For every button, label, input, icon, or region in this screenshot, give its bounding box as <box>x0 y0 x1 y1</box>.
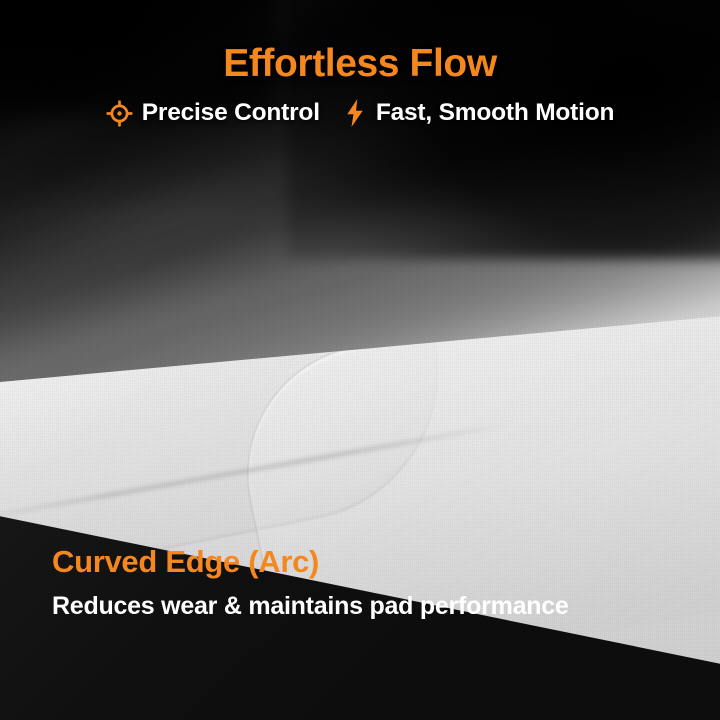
product-feature-image: Effortless Flow Precise Control <box>0 0 720 720</box>
feature-label-precise-control: Precise Control <box>142 99 320 127</box>
caption-block: Curved Edge (Arc) Reduces wear & maintai… <box>52 470 692 720</box>
header-block: Effortless Flow Precise Control <box>0 44 720 127</box>
caption-subtitle: Reduces wear & maintains pad performance <box>52 594 569 619</box>
feature-list: Precise Control Fast, Smooth Motion <box>0 99 720 127</box>
lightning-bolt-icon <box>343 99 367 127</box>
crosshair-icon <box>106 100 133 127</box>
caption-title: Curved Edge (Arc) <box>52 546 319 577</box>
feature-label-fast-smooth-motion: Fast, Smooth Motion <box>376 99 614 127</box>
page-title: Effortless Flow <box>0 44 720 83</box>
